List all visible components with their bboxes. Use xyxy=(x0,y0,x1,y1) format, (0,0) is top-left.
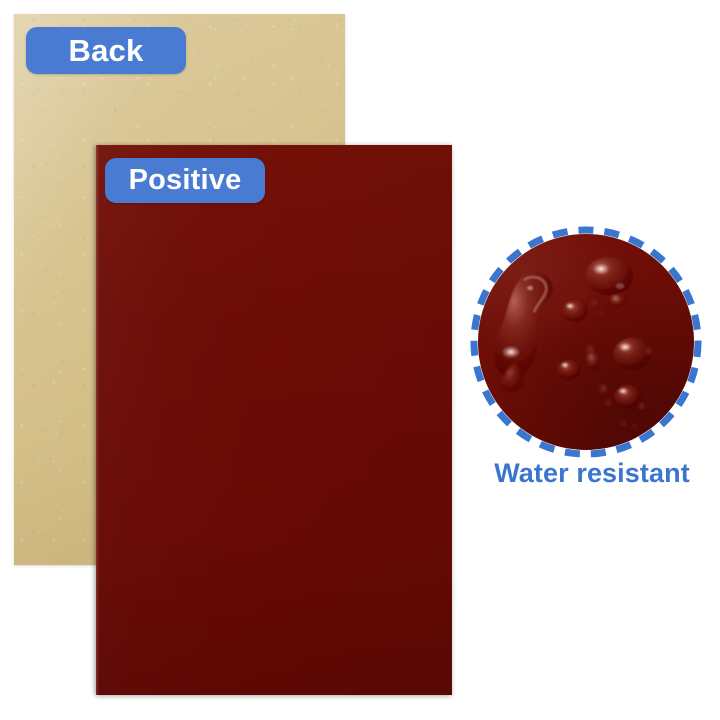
badge-back: Back xyxy=(26,27,186,74)
dashed-ring-icon xyxy=(470,226,702,458)
water-resistant-callout: Water resistant xyxy=(470,226,714,488)
badge-positive: Positive xyxy=(105,158,265,203)
water-resistant-swatch xyxy=(470,226,702,458)
badge-positive-label: Positive xyxy=(129,164,242,197)
badge-back-label: Back xyxy=(69,33,144,69)
product-image-canvas: Back Positive xyxy=(0,0,720,720)
front-sheet xyxy=(96,145,452,695)
water-resistant-caption: Water resistant xyxy=(470,458,714,489)
